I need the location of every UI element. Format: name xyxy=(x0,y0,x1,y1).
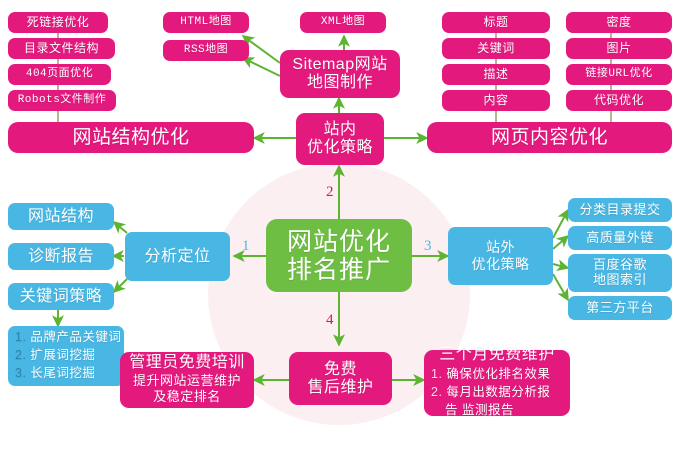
chip-label: 标题 xyxy=(483,16,508,29)
chip-label: 死链接优化 xyxy=(27,16,90,29)
chip-label: Robots文件制作 xyxy=(18,94,107,106)
chip-density[interactable]: 密度 xyxy=(566,12,672,33)
node-third-party-platform[interactable]: 第三方平台 xyxy=(568,296,672,320)
diagram-canvas: 死链接优化 目录文件结构 404页面优化 Robots文件制作 网站结构优化 H… xyxy=(0,0,680,449)
node-directory-submission[interactable]: 分类目录提交 xyxy=(568,198,672,222)
child-label: 高质量外链 xyxy=(586,231,654,246)
list-item: 1. 确保优化排名效果 xyxy=(431,366,550,384)
training-sub-1: 提升网站运营维护 xyxy=(133,373,241,389)
chip-images[interactable]: 图片 xyxy=(566,38,672,59)
section-content-optimization[interactable]: 网页内容优化 xyxy=(427,122,672,153)
after-sales-line-2: 售后维护 xyxy=(307,379,373,397)
node-sitemap-creation[interactable]: Sitemap网站 地图制作 xyxy=(280,50,400,98)
chip-label: RSS地图 xyxy=(184,44,228,56)
after-sales-line-1: 免费 xyxy=(324,361,357,379)
in-site-line-2: 优化策略 xyxy=(307,139,373,157)
node-high-quality-backlinks[interactable]: 高质量外链 xyxy=(568,226,672,250)
child-label: 百度谷歌 xyxy=(593,258,647,273)
analysis-label: 分析定位 xyxy=(144,248,210,266)
child-label: 第三方平台 xyxy=(586,301,654,316)
node-off-site-strategy[interactable]: 站外 优化策略 xyxy=(448,227,553,285)
chip-url-optimization[interactable]: 链接URL优化 xyxy=(566,64,672,85)
step-number-2: 2 xyxy=(326,184,334,201)
node-keyword-strategy[interactable]: 关键词策略 xyxy=(8,283,114,310)
chip-xml-sitemap[interactable]: XML地图 xyxy=(300,12,386,33)
output-label: 诊断报告 xyxy=(28,248,94,266)
chip-label: HTML地图 xyxy=(180,16,231,28)
chip-label: 代码优化 xyxy=(594,94,644,107)
off-site-line-2: 优化策略 xyxy=(472,256,530,274)
chip-content[interactable]: 内容 xyxy=(442,90,550,111)
list-item: 2. 每月出数据分析报 xyxy=(431,384,550,402)
chip-label: 图片 xyxy=(606,42,631,55)
section-structure-optimization[interactable]: 网站结构优化 xyxy=(8,122,254,153)
chip-404-page[interactable]: 404页面优化 xyxy=(8,64,111,85)
step-number-1: 1 xyxy=(242,238,250,255)
chip-robots-file[interactable]: Robots文件制作 xyxy=(8,90,116,111)
chip-code-optimization[interactable]: 代码优化 xyxy=(566,90,672,111)
chip-description[interactable]: 描述 xyxy=(442,64,550,85)
training-title: 管理员免费培训 xyxy=(129,354,245,372)
off-site-line-1: 站外 xyxy=(486,239,515,257)
output-label: 网站结构 xyxy=(28,208,94,226)
chip-dead-link[interactable]: 死链接优化 xyxy=(8,12,108,33)
chip-directory-structure[interactable]: 目录文件结构 xyxy=(8,38,115,59)
node-map-index[interactable]: 百度谷歌 地图索引 xyxy=(568,254,672,292)
center-line-2: 排名推广 xyxy=(287,256,391,284)
chip-rss-sitemap[interactable]: RSS地图 xyxy=(163,40,249,61)
chip-label: 描述 xyxy=(483,68,508,81)
list-item: 2. 扩展词挖掘 xyxy=(15,347,95,365)
center-line-1: 网站优化 xyxy=(287,228,391,256)
sitemap-line-1: Sitemap网站 xyxy=(292,56,387,74)
node-site-structure[interactable]: 网站结构 xyxy=(8,203,114,230)
node-three-month-maintenance[interactable]: 三个月免费维护 1. 确保优化排名效果 2. 每月出数据分析报 告 监测报告 xyxy=(424,350,570,416)
section-label: 网站结构优化 xyxy=(72,127,189,148)
child-label: 分类目录提交 xyxy=(579,203,660,218)
chip-html-sitemap[interactable]: HTML地图 xyxy=(163,12,249,33)
node-analysis-positioning[interactable]: 分析定位 xyxy=(125,232,230,281)
chip-label: 密度 xyxy=(606,16,631,29)
section-label: 网页内容优化 xyxy=(491,127,608,148)
chip-label: 链接URL优化 xyxy=(585,68,652,80)
chip-keywords[interactable]: 关键词 xyxy=(442,38,550,59)
output-label: 关键词策略 xyxy=(20,288,103,306)
chip-label: 404页面优化 xyxy=(26,68,93,80)
list-item: 3. 长尾词挖掘 xyxy=(15,365,95,383)
child-label-2: 地图索引 xyxy=(593,273,647,288)
node-diagnostic-report[interactable]: 诊断报告 xyxy=(8,243,114,270)
node-after-sales[interactable]: 免费 售后维护 xyxy=(289,352,392,405)
chip-title[interactable]: 标题 xyxy=(442,12,550,33)
chip-label: 目录文件结构 xyxy=(24,42,99,55)
step-number-4: 4 xyxy=(326,312,334,329)
node-in-site-strategy[interactable]: 站内 优化策略 xyxy=(296,113,384,165)
chip-label: XML地图 xyxy=(321,16,365,28)
sitemap-line-2: 地图制作 xyxy=(307,74,373,92)
training-sub-2: 及稳定排名 xyxy=(153,389,221,405)
list-item: 告 监测报告 xyxy=(431,402,514,420)
step-number-3: 3 xyxy=(424,238,432,255)
chip-label: 内容 xyxy=(483,94,508,107)
list-item: 1. 品牌产品关键词 xyxy=(15,329,121,347)
node-keyword-list[interactable]: 1. 品牌产品关键词 2. 扩展词挖掘 3. 长尾词挖掘 xyxy=(8,326,124,386)
maintenance-title: 三个月免费维护 xyxy=(439,344,555,367)
node-admin-training[interactable]: 管理员免费培训 提升网站运营维护 及稳定排名 xyxy=(120,352,254,408)
chip-label: 关键词 xyxy=(477,42,515,55)
in-site-line-1: 站内 xyxy=(323,121,356,139)
node-center-seo[interactable]: 网站优化 排名推广 xyxy=(266,219,412,292)
